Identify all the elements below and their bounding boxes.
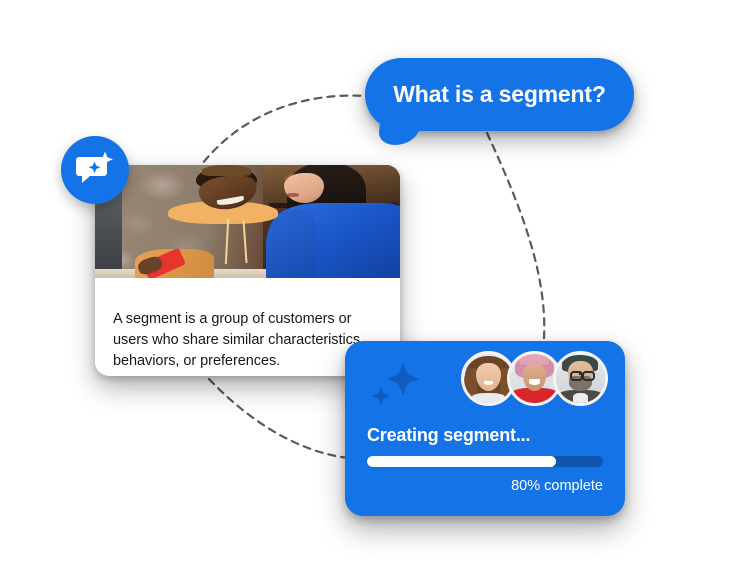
speech-bubble-tail <box>378 119 421 145</box>
question-speech-bubble: What is a segment? <box>365 58 634 131</box>
photo-woman-lips <box>287 193 299 196</box>
connector-card-to-bubble <box>196 96 366 172</box>
progress-status-label: Creating segment... <box>367 425 530 446</box>
progress-percent-label: 80% complete <box>511 478 603 494</box>
progress-bar-fill <box>367 456 556 467</box>
connector-card-to-progress <box>209 379 348 458</box>
chat-assistant-badge[interactable] <box>61 136 129 204</box>
creating-segment-card: Creating segment... 80% complete <box>345 341 625 516</box>
chat-sparkle-icon <box>75 151 115 189</box>
card-photo <box>95 165 400 278</box>
progress-bar-track <box>367 456 603 467</box>
card-description-text: A segment is a group of customers or use… <box>113 309 382 373</box>
illustration-canvas: What is a segment? <box>0 0 750 563</box>
avatar-person-3[interactable] <box>553 351 608 406</box>
speech-bubble-text: What is a segment? <box>393 81 605 108</box>
avatar-group <box>461 351 608 406</box>
connector-bubble-to-progress <box>487 133 544 350</box>
sparkle-icon <box>367 357 427 411</box>
